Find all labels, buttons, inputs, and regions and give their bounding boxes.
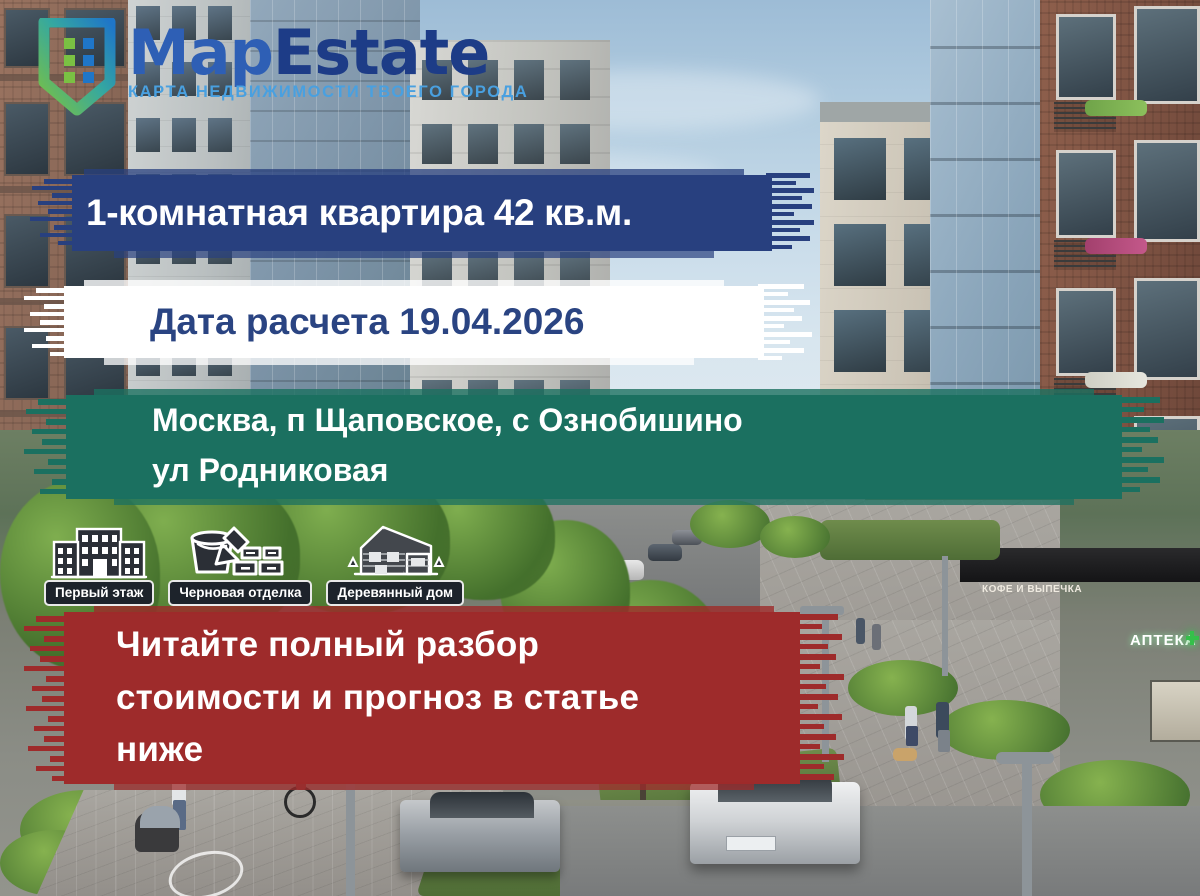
map-pin-bookmark-icon bbox=[38, 18, 116, 118]
bush bbox=[690, 500, 770, 548]
bush bbox=[760, 516, 830, 558]
wooden-house-icon bbox=[343, 522, 447, 584]
address-line-2: ул Родниковая bbox=[152, 446, 743, 496]
property-banner-text: 1-комнатная квартира 42 кв.м. bbox=[86, 192, 632, 234]
balcony-flowers bbox=[1085, 238, 1147, 254]
cta-line-3: ниже bbox=[116, 724, 639, 777]
brand-title: MapEstate bbox=[128, 24, 528, 81]
pharmacy-sign: АПТЕКА bbox=[1130, 632, 1197, 649]
street-lamp bbox=[1022, 760, 1032, 896]
balcony-flowers bbox=[1085, 100, 1147, 116]
badge-wooden-house-label: Деревянный дом bbox=[326, 580, 464, 606]
badge-rough-finish[interactable]: Черновая отделка bbox=[168, 522, 312, 606]
road-foreground bbox=[560, 806, 1200, 896]
badge-first-floor[interactable]: Первый этаж bbox=[44, 526, 154, 606]
street-lamp bbox=[942, 556, 948, 676]
stroller-hood bbox=[140, 806, 180, 828]
badge-rough-finish-label: Черновая отделка bbox=[168, 580, 312, 606]
calc-date-banner: Дата расчета 19.04.2026 bbox=[24, 272, 814, 372]
address-banner: Москва, п Щаповское, с Ознобишино ул Род… bbox=[24, 385, 1164, 507]
feature-badges: Первый этаж Че bbox=[44, 522, 464, 606]
brand-logo[interactable]: MapEstate КАРТА НЕДВИЖИМОСТИ ТВОЕГО ГОРО… bbox=[38, 18, 528, 118]
pedestrian-legs bbox=[938, 730, 950, 752]
license-plate bbox=[726, 836, 776, 851]
address-text: Москва, п Щаповское, с Ознобишино ул Род… bbox=[152, 396, 743, 495]
pedestrian-legs bbox=[906, 726, 918, 746]
cta-banner[interactable]: Читайте полный разбор стоимости и прогно… bbox=[24, 604, 844, 792]
lawn bbox=[820, 520, 1000, 560]
lamp-head bbox=[996, 752, 1054, 764]
property-banner: 1-комнатная квартира 42 кв.м. bbox=[24, 163, 814, 263]
brand-title-estate: Estate bbox=[273, 16, 489, 89]
pharmacy-cross-icon bbox=[1190, 631, 1194, 645]
paint-bucket-trowel-bricks-icon bbox=[184, 522, 296, 584]
apartment-building-icon bbox=[50, 526, 148, 584]
cafe-sign: КОФЕ И ВЫПЕЧКА bbox=[982, 584, 1082, 595]
dog bbox=[893, 748, 917, 761]
bush bbox=[940, 700, 1070, 760]
badge-wooden-house[interactable]: Деревянный дом bbox=[326, 522, 464, 606]
cta-line-1: Читайте полный разбор bbox=[116, 619, 639, 672]
car-windshield bbox=[430, 792, 534, 818]
brand-title-map: Map bbox=[128, 16, 273, 89]
cta-line-2: стоимости и прогноз в статье bbox=[116, 672, 639, 725]
brand-tagline: КАРТА НЕДВИЖИМОСТИ ТВОЕГО ГОРОДА bbox=[128, 83, 528, 102]
poster-canvas: КОФЕ И ВЫПЕЧКА АПТЕКА bbox=[0, 0, 1200, 896]
pedestrian bbox=[872, 624, 881, 650]
poster-board bbox=[1150, 680, 1200, 742]
car bbox=[648, 544, 682, 561]
address-line-1: Москва, п Щаповское, с Ознобишино bbox=[152, 396, 743, 446]
cta-text: Читайте полный разбор стоимости и прогно… bbox=[116, 619, 639, 777]
calc-date-text: Дата расчета 19.04.2026 bbox=[150, 301, 584, 343]
brand-text: MapEstate КАРТА НЕДВИЖИМОСТИ ТВОЕГО ГОРО… bbox=[128, 24, 528, 102]
pedestrian bbox=[856, 618, 865, 644]
badge-first-floor-label: Первый этаж bbox=[44, 580, 154, 606]
